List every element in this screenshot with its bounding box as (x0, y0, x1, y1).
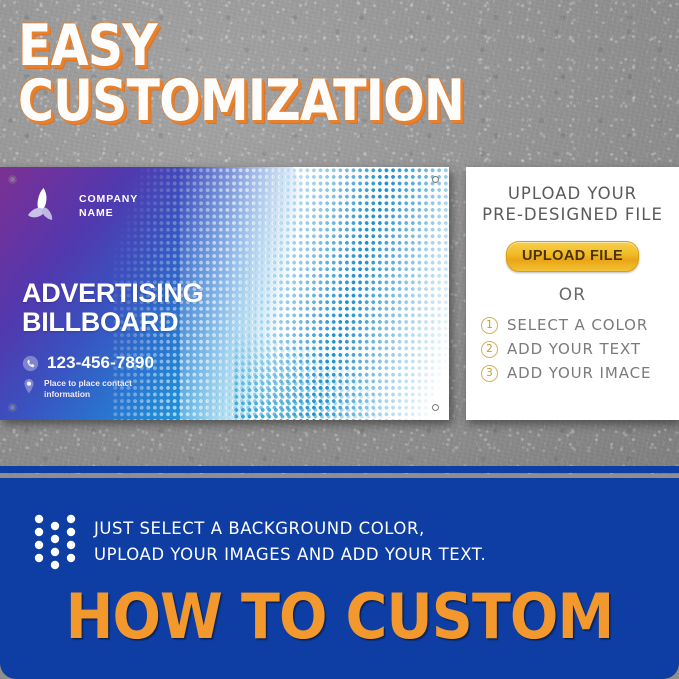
page-title-line2: CUSTOMIZATION (18, 77, 464, 126)
halftone-corner-pattern (233, 288, 449, 420)
phone-icon (22, 355, 39, 372)
upload-panel: UPLOAD YOUR PRE-DESIGNED FILE UPLOAD FIL… (466, 167, 679, 420)
step-label-2: ADD YOUR TEXT (507, 340, 641, 358)
footer-tagline: JUST SELECT A BACKGROUND COLOR, UPLOAD Y… (94, 516, 486, 568)
billboard-headline-line2: BILLBOARD (22, 308, 203, 337)
company-name-line2: NAME (79, 207, 138, 221)
upload-file-button[interactable]: UPLOAD FILE (506, 241, 639, 272)
billboard-address-line2: information (44, 389, 132, 400)
footer-tagline-row: JUST SELECT A BACKGROUND COLOR, UPLOAD Y… (34, 514, 486, 570)
billboard-headline-line1: ADVERTISING (22, 279, 203, 308)
dot-grid-icon (34, 514, 76, 570)
footer-tagline-line1: JUST SELECT A BACKGROUND COLOR, (94, 516, 486, 542)
company-name: COMPANY NAME (79, 193, 138, 221)
upload-panel-title-line2: PRE-DESIGNED FILE (474, 204, 671, 225)
or-separator-label: OR (474, 285, 671, 305)
step-item-3[interactable]: 3 ADD YOUR IMACE (481, 364, 671, 382)
upload-panel-title-line1: UPLOAD YOUR (474, 183, 671, 204)
upload-panel-title: UPLOAD YOUR PRE-DESIGNED FILE (474, 183, 671, 225)
company-name-line1: COMPANY (79, 193, 138, 207)
billboard-headline: ADVERTISING BILLBOARD (22, 279, 203, 337)
billboard-preview[interactable]: COMPANY NAME ADVERTISING BILLBOARD 123-4… (0, 167, 449, 420)
billboard-brand: COMPANY NAME (22, 184, 138, 230)
steps-list: 1 SELECT A COLOR 2 ADD YOUR TEXT 3 ADD Y… (474, 316, 671, 382)
grommet-top-right-icon (432, 176, 439, 183)
grommet-top-left-icon (9, 176, 16, 183)
location-pin-icon (22, 378, 36, 395)
accent-strip (0, 466, 679, 473)
step-item-1[interactable]: 1 SELECT A COLOR (481, 316, 671, 334)
billboard-address-line1: Place to place contact (44, 378, 132, 389)
step-number-1: 1 (481, 317, 498, 334)
billboard-phone-number: 123-456-7890 (47, 353, 154, 373)
step-label-1: SELECT A COLOR (507, 316, 648, 334)
page-title: EASY CUSTOMIZATION (18, 22, 537, 126)
billboard-phone: 123-456-7890 (22, 353, 154, 373)
billboard-address: Place to place contact information (22, 378, 132, 400)
footer-tagline-line2: UPLOAD YOUR IMAGES AND ADD YOUR TEXT. (94, 542, 486, 568)
step-number-2: 2 (481, 341, 498, 358)
page-title-line1: EASY (18, 22, 464, 71)
company-logo-icon (22, 184, 68, 230)
promo-graphic: EASY CUSTOMIZATION COMPANY NAME ADVERTIS… (0, 0, 679, 679)
footer-headline: HOW TO CUSTOM (27, 586, 652, 648)
grommet-bottom-right-icon (432, 404, 439, 411)
grommet-bottom-left-icon (9, 404, 16, 411)
step-label-3: ADD YOUR IMACE (507, 364, 651, 382)
step-number-3: 3 (481, 365, 498, 382)
footer-panel: JUST SELECT A BACKGROUND COLOR, UPLOAD Y… (0, 478, 679, 679)
step-item-2[interactable]: 2 ADD YOUR TEXT (481, 340, 671, 358)
